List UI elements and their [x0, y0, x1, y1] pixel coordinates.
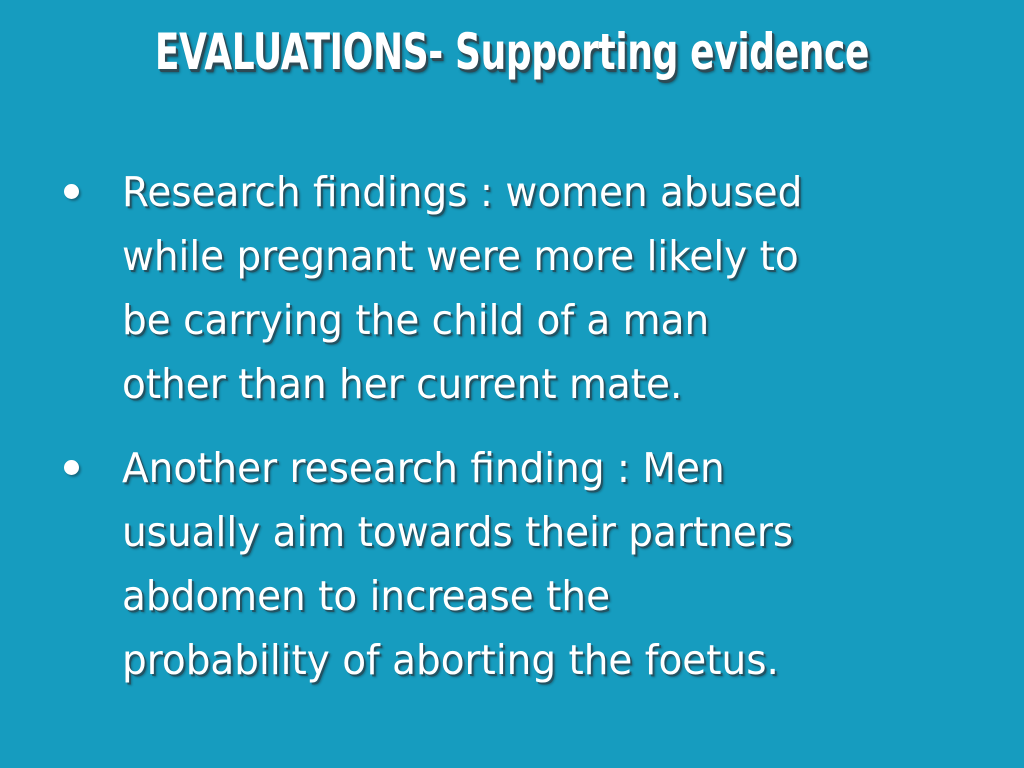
bullet-line: while pregnant were more likely to: [122, 224, 941, 288]
bullet-line: probability of aborting the foetus.: [122, 628, 941, 692]
bullet-line: usually aim towards their partners: [122, 500, 941, 564]
bullet-marker: [54, 436, 122, 500]
bullet-item: Another research finding : Men usually a…: [54, 436, 984, 692]
bullet-line: be carrying the child of a man: [122, 288, 941, 352]
bullet-item: Research findings : women abused while p…: [54, 160, 984, 416]
slide-title: EVALUATIONS- Supporting evidence: [143, 24, 880, 80]
slide-body: Research findings : women abused while p…: [54, 160, 984, 696]
bullet-line: Research findings : women abused: [122, 160, 941, 224]
bullet-text: Research findings : women abused while p…: [122, 160, 941, 416]
bullet-line: other than her current mate.: [122, 352, 941, 416]
bullet-line: abdomen to increase the: [122, 564, 941, 628]
presentation-slide: EVALUATIONS- Supporting evidence Researc…: [0, 0, 1024, 768]
bullet-dot-icon: [64, 460, 79, 475]
bullet-dot-icon: [64, 184, 79, 199]
bullet-text: Another research finding : Men usually a…: [122, 436, 941, 692]
bullet-marker: [54, 160, 122, 224]
bullet-line: Another research finding : Men: [122, 436, 941, 500]
